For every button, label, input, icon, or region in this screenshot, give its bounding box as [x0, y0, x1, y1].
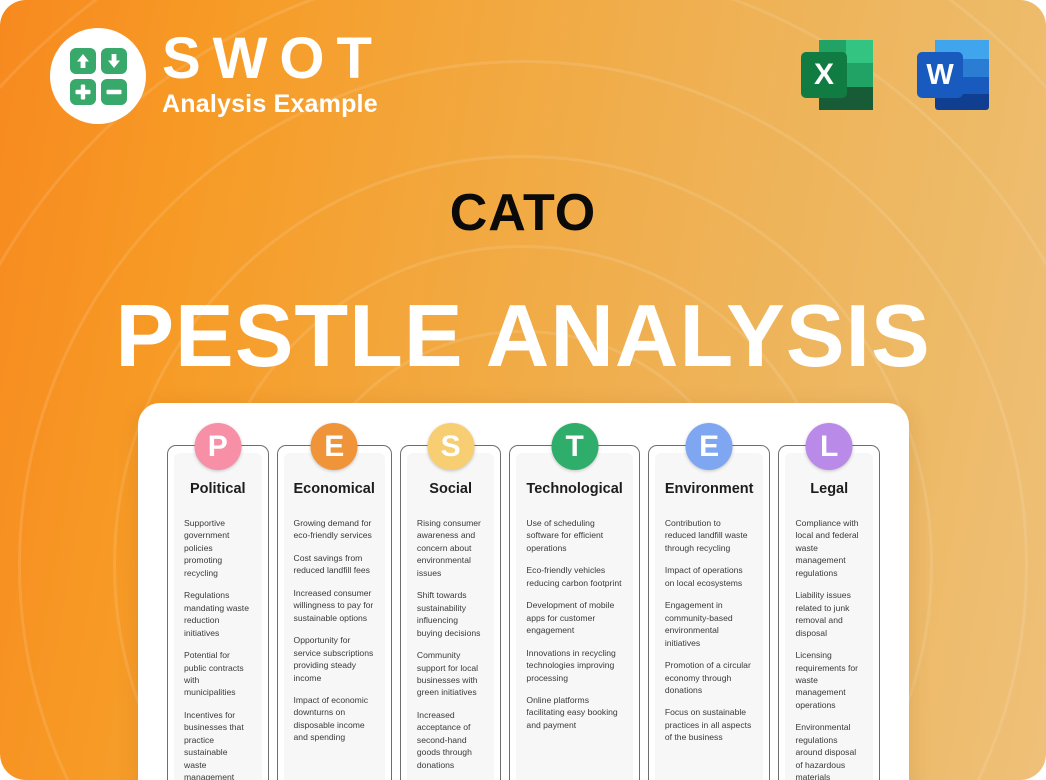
list-item: Shift towards sustainability influencing… — [417, 589, 485, 639]
column-title-political: Political — [184, 481, 252, 497]
list-item: Engagement in community-based environmen… — [665, 599, 754, 649]
pestle-column-environment[interactable]: E Environment Contribution to reduced la… — [648, 445, 771, 780]
pestle-columns: P Political Supportive government polici… — [167, 445, 880, 780]
list-item: Potential for public contracts with muni… — [184, 649, 252, 699]
pestle-column-technological[interactable]: T Technological Use of scheduling softwa… — [509, 445, 639, 780]
brand-title: SWOT — [162, 30, 384, 88]
list-item: Supportive government policies promoting… — [184, 517, 252, 579]
office-app-icons: X W — [793, 28, 1001, 120]
list-item: Licensing requirements for waste managem… — [795, 649, 863, 711]
badge-legal: L — [806, 423, 853, 470]
badge-environment: E — [686, 423, 733, 470]
list-item: Use of scheduling software for efficient… — [526, 517, 622, 554]
minus-icon — [101, 79, 127, 105]
badge-political: P — [194, 423, 241, 470]
company-name: CATO — [0, 183, 1046, 243]
badge-technological: T — [551, 423, 598, 470]
column-title-legal: Legal — [795, 481, 863, 497]
column-items-technological: Use of scheduling software for efficient… — [526, 517, 622, 731]
column-title-social: Social — [417, 481, 485, 497]
badge-social: S — [427, 423, 474, 470]
poster-header: SWOT Analysis Example X — [0, 0, 1046, 150]
list-item: Increased acceptance of second-hand good… — [417, 709, 485, 771]
column-items-legal: Compliance with local and federal waste … — [795, 517, 863, 780]
list-item: Increased consumer willingness to pay fo… — [294, 587, 375, 624]
badge-economical: E — [311, 423, 358, 470]
list-item: Focus on sustainable practices in all as… — [665, 706, 754, 743]
list-item: Impact of operations on local ecosystems — [665, 564, 754, 589]
list-item: Opportunity for service subscriptions pr… — [294, 634, 375, 684]
column-items-social: Rising consumer awareness and concern ab… — [417, 517, 485, 780]
excel-icon[interactable]: X — [793, 28, 885, 120]
word-icon[interactable]: W — [909, 28, 1001, 120]
list-item: Contribution to reduced landfill waste t… — [665, 517, 754, 554]
pestle-column-political[interactable]: P Political Supportive government polici… — [167, 445, 269, 780]
page-title: PESTLE ANALYSIS — [0, 292, 1046, 380]
list-item: Environmental regulations around disposa… — [795, 721, 863, 780]
column-title-environment: Environment — [665, 481, 754, 497]
list-item: Incentives for businesses that practice … — [184, 709, 252, 780]
list-item: Innovations in recycling technologies im… — [526, 647, 622, 684]
brand-lockup: SWOT Analysis Example — [50, 28, 384, 124]
pestle-column-social[interactable]: S Social Rising consumer awareness and c… — [400, 445, 502, 780]
svg-text:W: W — [926, 59, 954, 91]
list-item: Community support for local businesses w… — [417, 649, 485, 699]
list-item: Eco-friendly vehicles reducing carbon fo… — [526, 564, 622, 589]
arrow-down-icon — [101, 48, 127, 74]
pestle-column-legal[interactable]: L Legal Compliance with local and federa… — [778, 445, 880, 780]
column-title-economical: Economical — [294, 481, 375, 497]
pestle-analysis-poster: SWOT Analysis Example X — [0, 0, 1046, 780]
list-item: Liability issues related to junk removal… — [795, 589, 863, 639]
column-items-environment: Contribution to reduced landfill waste t… — [665, 517, 754, 744]
list-item: Development of mobile apps for customer … — [526, 599, 622, 636]
swot-logo-icon — [50, 28, 146, 124]
column-title-technological: Technological — [526, 481, 622, 497]
list-item: Promotion of a circular economy through … — [665, 659, 754, 696]
list-item: Impact of economic downturns on disposab… — [294, 694, 375, 744]
column-items-economical: Growing demand for eco-friendly services… — [294, 517, 375, 744]
plus-icon — [70, 79, 96, 105]
brand-subtitle: Analysis Example — [162, 90, 378, 119]
column-items-political: Supportive government policies promoting… — [184, 517, 252, 780]
list-item: Rising consumer awareness and concern ab… — [417, 517, 485, 579]
list-item: Regulations mandating waste reduction in… — [184, 589, 252, 639]
pestle-column-economical[interactable]: E Economical Growing demand for eco-frie… — [277, 445, 392, 780]
list-item: Cost savings from reduced landfill fees — [294, 552, 375, 577]
list-item: Growing demand for eco-friendly services — [294, 517, 375, 542]
list-item: Compliance with local and federal waste … — [795, 517, 863, 579]
svg-text:X: X — [814, 58, 834, 91]
pestle-card: P Political Supportive government polici… — [138, 403, 909, 780]
arrow-up-icon — [70, 48, 96, 74]
list-item: Online platforms facilitating easy booki… — [526, 694, 622, 731]
